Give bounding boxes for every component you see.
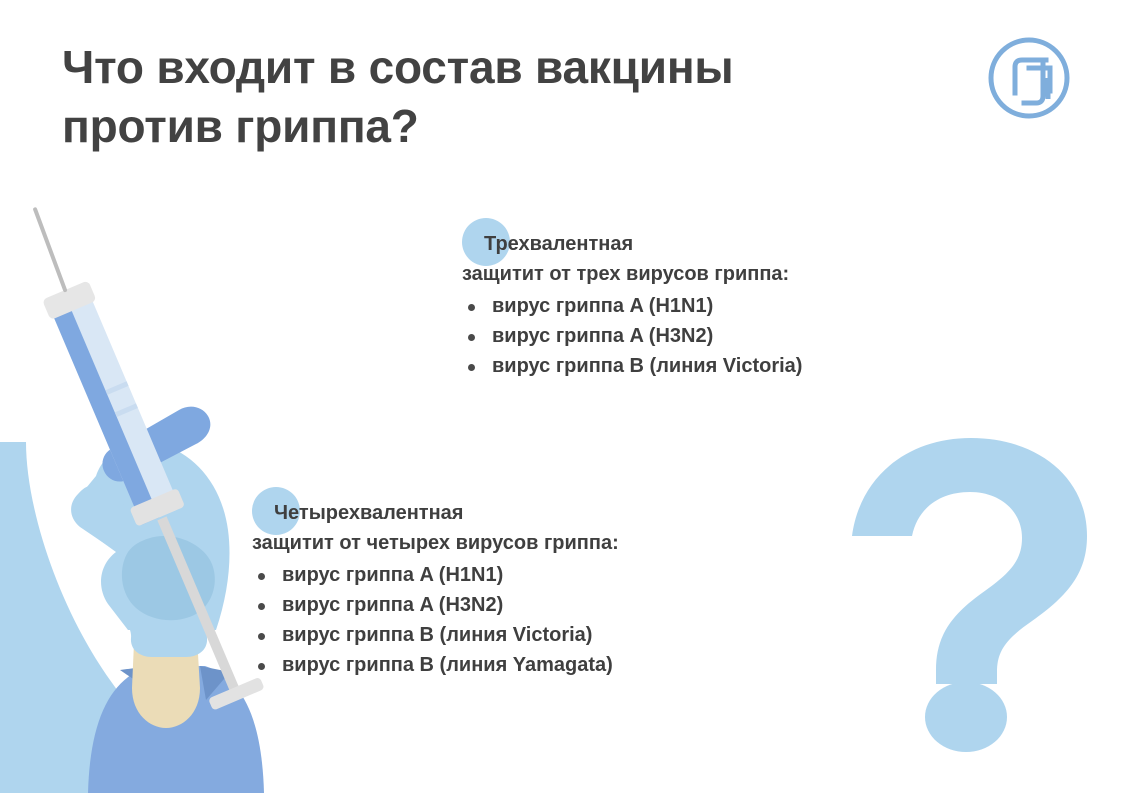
vaccine-heading: Четырехвалентная: [274, 503, 619, 523]
list-item: вирус гриппа B (линия Victoria): [462, 356, 802, 377]
bullet-icon: [468, 364, 475, 371]
bullet-icon: [468, 304, 475, 311]
vaccine-block-trivalent: Трехвалентная защитит от трех вирусов гр…: [462, 218, 802, 386]
question-mark-decoration: [846, 432, 1096, 752]
vaccine-block-body: Четырехвалентная защитит от четырех виру…: [252, 487, 619, 676]
list-item-label: вирус гриппа B (линия Victoria): [492, 355, 802, 377]
list-item-label: вирус гриппа A (H3N2): [492, 325, 713, 347]
list-item-label: вирус гриппа A (H1N1): [282, 564, 503, 586]
bullet-icon: [258, 603, 265, 610]
slide-canvas: Что входит в состав вакцины против грипп…: [0, 0, 1122, 793]
vaccine-block-quadrivalent: Четырехвалентная защитит от четырех виру…: [252, 487, 619, 685]
page-title: Что входит в состав вакцины против грипп…: [62, 38, 962, 156]
bullet-icon: [258, 633, 265, 640]
list-item: вирус гриппа A (H3N2): [462, 326, 802, 347]
company-logo: [988, 37, 1070, 119]
page-title-block: Что входит в состав вакцины против грипп…: [62, 38, 962, 156]
list-item: вирус гриппа A (H1N1): [462, 296, 802, 317]
virus-list: вирус гриппа A (H1N1) вирус гриппа A (H3…: [462, 296, 802, 377]
list-item: вирус гриппа A (H1N1): [252, 565, 619, 586]
list-item-label: вирус гриппа A (H3N2): [282, 594, 503, 616]
bullet-icon: [258, 663, 265, 670]
vaccine-subheading: защитит от трех вирусов гриппа:: [462, 264, 802, 284]
vaccine-block-body: Трехвалентная защитит от трех вирусов гр…: [462, 218, 802, 377]
list-item-label: вирус гриппа B (линия Victoria): [282, 624, 592, 646]
bullet-icon: [468, 334, 475, 341]
list-item-label: вирус гриппа A (H1N1): [492, 295, 713, 317]
bullet-icon: [258, 573, 265, 580]
list-item: вирус гриппа B (линия Yamagata): [252, 655, 619, 676]
list-item: вирус гриппа B (линия Victoria): [252, 625, 619, 646]
vaccine-heading: Трехвалентная: [484, 234, 802, 254]
list-item-label: вирус гриппа B (линия Yamagata): [282, 654, 613, 676]
vaccine-subheading: защитит от четырех вирусов гриппа:: [252, 533, 619, 553]
virus-list: вирус гриппа A (H1N1) вирус гриппа A (H3…: [252, 565, 619, 676]
list-item: вирус гриппа A (H3N2): [252, 595, 619, 616]
